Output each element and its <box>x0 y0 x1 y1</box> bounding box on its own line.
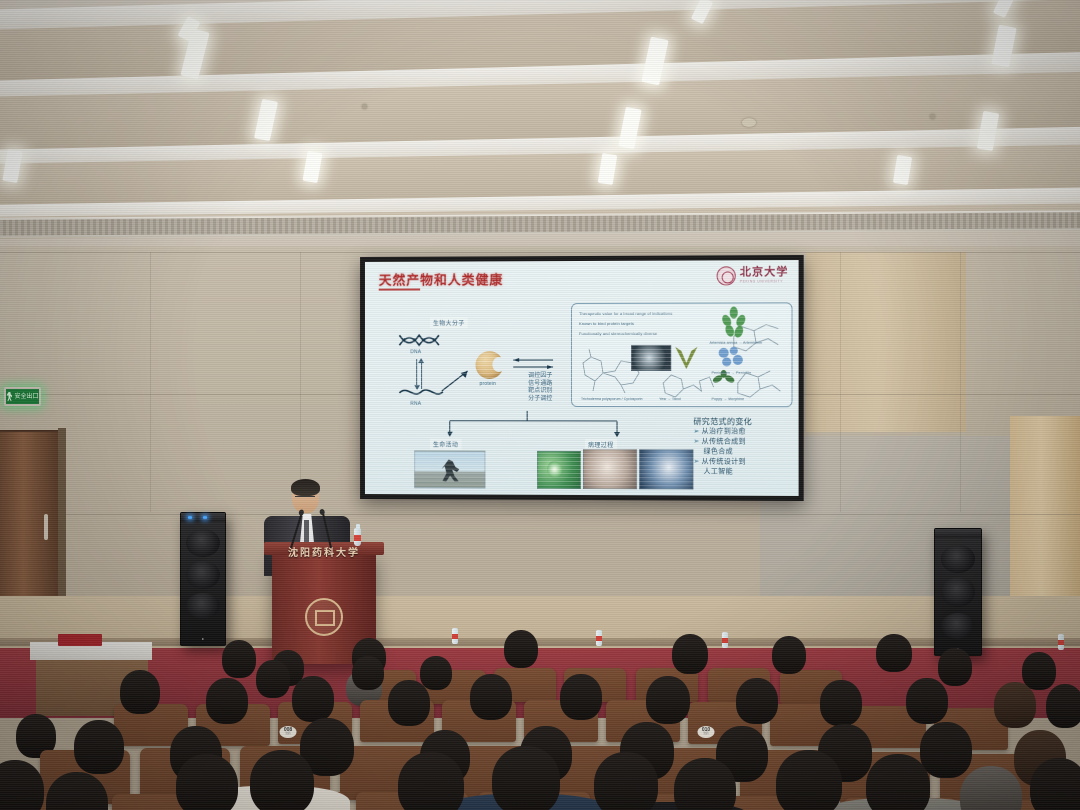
audience: 008 沈药 010 沈药 006 沈药 <box>0 626 1080 810</box>
pku-logo-subtitle: PEKING UNIVERSITY <box>740 281 789 285</box>
sprinkler <box>930 114 935 119</box>
slide-title: 天然产物和人类健康 <box>379 269 504 288</box>
water-bottle[interactable] <box>354 528 361 546</box>
pku-seal-icon <box>717 266 736 285</box>
audience-head <box>504 630 538 668</box>
thumbnail-brain <box>639 449 693 489</box>
protein-label: protein <box>479 381 496 387</box>
audience-head <box>820 680 862 726</box>
speaker-led <box>188 516 192 519</box>
audience-head <box>594 752 658 810</box>
audience-head <box>1046 684 1080 728</box>
regulation-arrows <box>509 357 555 371</box>
podium-top-surface: 沈阳药科大学 <box>264 542 384 555</box>
protein-icon <box>476 351 504 379</box>
speaker-driver <box>941 545 976 573</box>
outcome-left-label: 生命活动 <box>430 439 461 450</box>
plant-icon-v <box>673 345 699 371</box>
audience-head <box>646 676 690 724</box>
audience-head <box>674 758 736 810</box>
thumbnail-virus <box>537 451 581 489</box>
projection-screen: 天然产物和人类健康 北京大学 PEKING UNIVERSITY 生物大分子 D… <box>360 255 804 501</box>
smoke-detector <box>742 118 756 127</box>
podium-institution-label: 沈阳药科大学 <box>264 544 384 559</box>
wall-seam <box>840 252 841 512</box>
door-handle[interactable] <box>44 514 48 540</box>
audience-head <box>938 648 972 686</box>
mold-icon-penicillium <box>716 345 746 371</box>
pku-logo-name: 北京大学 <box>740 267 789 278</box>
paradigm-item: ➢从传统设计到 <box>693 457 752 467</box>
audience-head <box>906 678 948 724</box>
panel-caption: Poppy → Morphine <box>712 397 745 401</box>
thumbnail-cell <box>583 449 637 489</box>
ceiling <box>0 0 1080 250</box>
audience-head <box>470 674 512 720</box>
presenter-glasses <box>295 496 315 502</box>
audience-head <box>292 676 334 722</box>
branch-connector <box>448 411 627 439</box>
audience-head <box>1022 652 1056 690</box>
wall-seam <box>0 514 1080 515</box>
speaker-driver <box>186 593 219 619</box>
seat-number-badge: 008 沈药 <box>280 726 297 738</box>
chemical-structure <box>659 367 717 399</box>
speaker-driver <box>941 577 976 607</box>
dna-label: DNA <box>410 349 421 355</box>
audience-head <box>0 760 44 810</box>
paradigm-item: ➢从传统合成到 <box>693 437 752 447</box>
panel-bullet: Functionally and stereochemically divers… <box>579 331 657 336</box>
audience-head <box>120 670 160 714</box>
paradigm-block: 研究范式的变化 ➢从治疗到治愈 ➢从传统合成到 绿色合成 ➢从传统设计到 人工智… <box>693 417 752 477</box>
presenter-hair <box>291 479 320 496</box>
bullet-glyph-icon: ➢ <box>693 458 699 465</box>
panel-bullet: Therapeutic value for a broad range of i… <box>579 311 672 316</box>
audience-head <box>420 656 452 690</box>
water-bottle <box>596 630 602 646</box>
wall-seam <box>960 252 961 512</box>
regulation-line: 信号通路 <box>528 380 552 387</box>
audience-head <box>920 722 972 778</box>
audience-head <box>74 720 124 774</box>
speaker-top-panel <box>935 529 981 538</box>
speaker-driver <box>186 529 219 557</box>
thumbnail-running <box>414 451 485 489</box>
audience-head <box>250 750 314 810</box>
presentation-slide: 天然产物和人类健康 北京大学 PEKING UNIVERSITY 生物大分子 D… <box>365 260 799 496</box>
rna-to-protein-arrow <box>440 367 474 393</box>
audience-head <box>876 634 912 672</box>
audience-head <box>672 634 708 674</box>
seat-number-sub: 沈药 <box>285 733 290 736</box>
rna-label: RNA <box>410 401 421 407</box>
audience-head <box>256 660 290 698</box>
regulation-text-block: 调控因子 信号通路 靶点识别 分子调控 <box>528 373 552 403</box>
speaker-led <box>203 516 207 519</box>
speaker-driver <box>186 561 219 589</box>
exit-sign-label: 安全出口 <box>14 394 38 400</box>
wall-wood-column <box>806 252 966 432</box>
seat-number-sub: 沈药 <box>703 733 708 736</box>
running-man-icon <box>6 392 12 401</box>
regulation-line: 调控因子 <box>528 373 552 380</box>
seat-number-badge: 010 沈药 <box>698 726 715 738</box>
wall-seam <box>300 252 301 512</box>
audience-head <box>736 678 778 724</box>
regulation-line: 分子调控 <box>528 395 552 403</box>
paradigm-item-cont: 人工智能 <box>693 467 752 477</box>
bullet-glyph-icon: ➢ <box>693 428 699 435</box>
paradigm-item: ➢从治疗到治愈 <box>693 427 752 437</box>
panel-caption: Artemisia annua → Artemisinin <box>710 341 763 345</box>
audience-head <box>866 754 930 810</box>
regulation-line: 靶点识别 <box>528 388 552 396</box>
audience-head <box>398 752 464 810</box>
bullet-glyph-icon: ➢ <box>693 438 699 445</box>
audience-head <box>560 674 602 720</box>
panel-caption: Penicillium → Penicillin <box>712 371 752 375</box>
exit-sign: 安全出口 <box>4 387 41 406</box>
diagram-group-label: 生物大分子 <box>430 317 468 328</box>
water-bottle <box>722 632 728 648</box>
sprinkler <box>362 104 367 109</box>
audience-head <box>1030 758 1080 810</box>
panel-bullet: Known to bind protein targets <box>579 321 634 326</box>
audience-head <box>388 680 430 726</box>
audience-head <box>994 682 1036 728</box>
paradigm-heading: 研究范式的变化 <box>693 417 752 427</box>
paradigm-item-cont: 绿色合成 <box>693 447 752 457</box>
audience-head <box>206 678 248 724</box>
wall-seam <box>0 252 1080 253</box>
rna-strand-icon <box>398 385 443 399</box>
plant-icon-artemisia <box>718 307 750 341</box>
audience-head <box>492 746 560 810</box>
water-bottle <box>452 628 458 644</box>
audience-head <box>222 640 256 678</box>
lecture-hall-photo: 安全出口 天然产物和人类健康 北京大学 PEKING UNIVERSITY 生物… <box>0 0 1080 810</box>
dna-helix-icon <box>398 333 443 347</box>
audience-head <box>772 636 806 674</box>
slide-title-underline <box>379 289 420 291</box>
audience-head <box>176 754 238 810</box>
panel-caption: Yew → Taxol <box>659 397 681 401</box>
wall-seam <box>150 252 151 512</box>
panel-caption: Trichoderma polysporum / Cyclosporin <box>581 397 643 401</box>
audience-head <box>776 750 842 810</box>
thumbnail-microscopy <box>631 345 671 371</box>
water-bottle <box>1058 634 1064 650</box>
audience-head <box>352 656 384 690</box>
pku-logo: 北京大学 PEKING UNIVERSITY <box>717 266 789 285</box>
